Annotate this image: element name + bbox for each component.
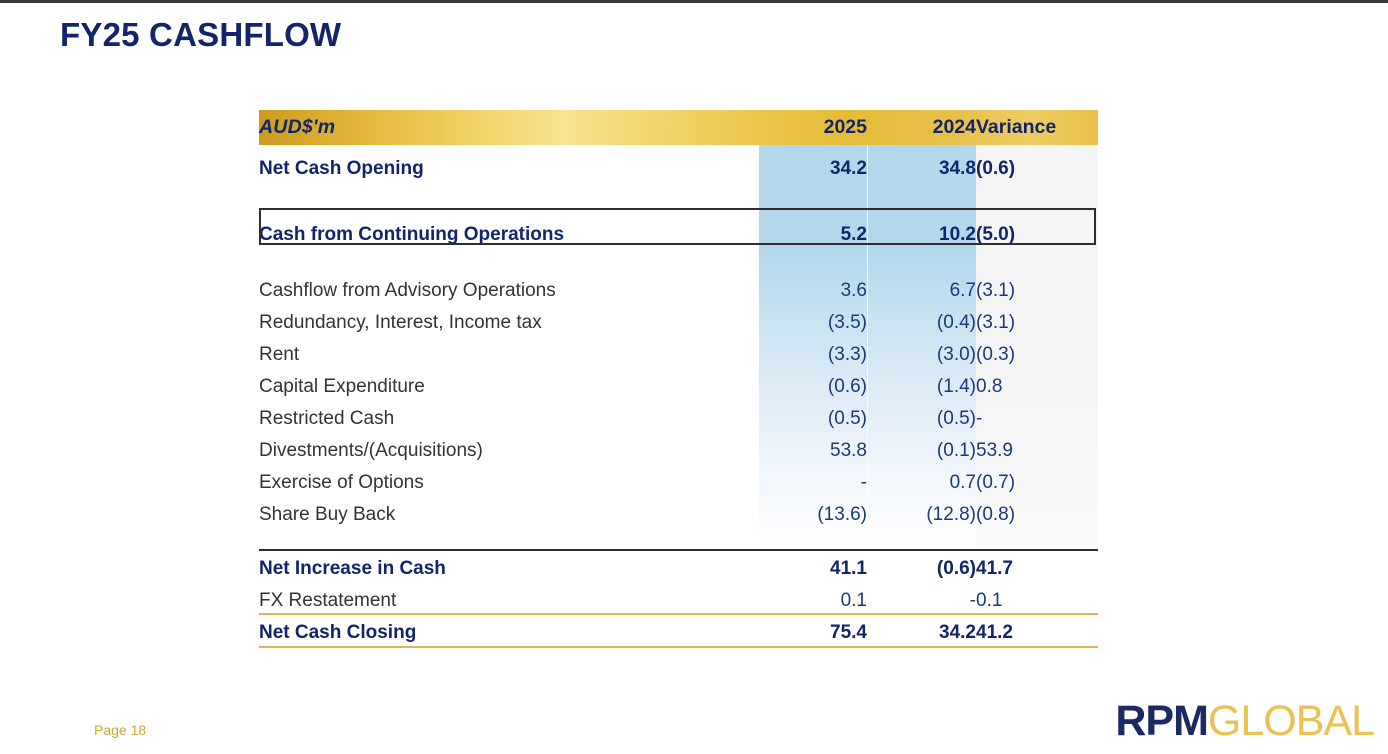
- row-label: Capital Expenditure: [259, 371, 759, 403]
- table-row: Exercise of Options - 0.7 (0.7): [259, 467, 1098, 499]
- table-row: Rent (3.3) (3.0) (0.3): [259, 339, 1098, 371]
- table-row: Restricted Cash (0.5) (0.5) -: [259, 403, 1098, 435]
- spacer-before-totals: [259, 531, 1098, 553]
- row-label: Net Cash Closing: [259, 617, 759, 649]
- cell-2025: 3.6: [759, 275, 867, 307]
- row-label: Redundancy, Interest, Income tax: [259, 307, 759, 339]
- spacer-cell: [867, 253, 976, 275]
- rpm-global-logo: RPMGLOBAL: [1115, 697, 1374, 746]
- spacer-cell: [259, 531, 759, 553]
- spacer-cell: [759, 531, 867, 553]
- table-row-cash-from-continuing-operations: Cash from Continuing Operations 5.2 10.2…: [259, 216, 1098, 253]
- cell-2025: (3.5): [759, 307, 867, 339]
- spacer-cell: [259, 193, 759, 216]
- cell-2025: 0.1: [759, 585, 867, 617]
- row-label: Net Cash Opening: [259, 145, 759, 193]
- cell-variance: (0.6): [976, 145, 1098, 193]
- spacer-after-highlight: [259, 253, 1098, 275]
- cell-2024: (12.8): [867, 499, 976, 531]
- spacer-cell: [867, 531, 976, 553]
- spacer-cell: [759, 253, 867, 275]
- cell-2024: (0.6): [867, 553, 976, 585]
- cell-2024: (0.1): [867, 435, 976, 467]
- header-currency-unit: AUD$'m: [259, 110, 759, 145]
- table-row: Capital Expenditure (0.6) (1.4) 0.8: [259, 371, 1098, 403]
- table-row-net-increase-in-cash: Net Increase in Cash 41.1 (0.6) 41.7: [259, 553, 1098, 585]
- cell-2024: 34.8: [867, 145, 976, 193]
- cell-variance: (0.7): [976, 467, 1098, 499]
- row-label: Cashflow from Advisory Operations: [259, 275, 759, 307]
- cell-2025: 53.8: [759, 435, 867, 467]
- row-label: Restricted Cash: [259, 403, 759, 435]
- cell-variance: (0.3): [976, 339, 1098, 371]
- cell-variance: (0.8): [976, 499, 1098, 531]
- table-row-net-cash-opening: Net Cash Opening 34.2 34.8 (0.6): [259, 145, 1098, 193]
- cell-2025: 41.1: [759, 553, 867, 585]
- table-row: Divestments/(Acquisitions) 53.8 (0.1) 53…: [259, 435, 1098, 467]
- table-row-net-cash-closing: Net Cash Closing 75.4 34.2 41.2: [259, 617, 1098, 649]
- cell-2024: 34.2: [867, 617, 976, 649]
- cell-variance: (5.0): [976, 216, 1098, 253]
- spacer-cell: [976, 253, 1098, 275]
- row-label: Share Buy Back: [259, 499, 759, 531]
- cell-variance: -: [976, 403, 1098, 435]
- row-label: Divestments/(Acquisitions): [259, 435, 759, 467]
- cell-2024: 0.7: [867, 467, 976, 499]
- row-label: Net Increase in Cash: [259, 553, 759, 585]
- spacer-cell: [867, 193, 976, 216]
- cell-variance: (3.1): [976, 275, 1098, 307]
- cell-2024: (3.0): [867, 339, 976, 371]
- cell-2024: -: [867, 585, 976, 617]
- header-col-2024: 2024: [867, 110, 976, 145]
- cell-variance: 41.2: [976, 617, 1098, 649]
- cell-2025: (3.3): [759, 339, 867, 371]
- cell-variance: (3.1): [976, 307, 1098, 339]
- cell-2024: (0.5): [867, 403, 976, 435]
- cell-variance: 53.9: [976, 435, 1098, 467]
- page-number: Page 18: [94, 722, 146, 738]
- cell-2024: 10.2: [867, 216, 976, 253]
- cell-2025: 5.2: [759, 216, 867, 253]
- logo-text-rpm: RPM: [1115, 697, 1208, 745]
- logo-text-global: GLOBAL: [1208, 697, 1374, 745]
- cell-2024: (1.4): [867, 371, 976, 403]
- cell-2025: (13.6): [759, 499, 867, 531]
- top-edge-strip: [0, 0, 1388, 3]
- table-row: Redundancy, Interest, Income tax (3.5) (…: [259, 307, 1098, 339]
- cell-variance: 0.1: [976, 585, 1098, 617]
- table-row-fx-restatement: FX Restatement 0.1 - 0.1: [259, 585, 1098, 617]
- cell-2024: (0.4): [867, 307, 976, 339]
- row-label: Rent: [259, 339, 759, 371]
- row-label: FX Restatement: [259, 585, 759, 617]
- header-col-2025: 2025: [759, 110, 867, 145]
- cell-2024: 6.7: [867, 275, 976, 307]
- spacer-cell: [259, 253, 759, 275]
- cell-2025: (0.5): [759, 403, 867, 435]
- row-label: Cash from Continuing Operations: [259, 216, 759, 253]
- spacer-cell: [976, 193, 1098, 216]
- cell-2025: (0.6): [759, 371, 867, 403]
- row-label: Exercise of Options: [259, 467, 759, 499]
- table-row: Share Buy Back (13.6) (12.8) (0.8): [259, 499, 1098, 531]
- spacer-cell: [976, 531, 1098, 553]
- table-header-row: AUD$'m 2025 2024 Variance: [259, 110, 1098, 145]
- header-col-variance: Variance: [976, 110, 1098, 145]
- cell-variance: 41.7: [976, 553, 1098, 585]
- table-row: Cashflow from Advisory Operations 3.6 6.…: [259, 275, 1098, 307]
- page-title: FY25 CASHFLOW: [60, 16, 341, 54]
- cell-2025: 75.4: [759, 617, 867, 649]
- cell-2025: 34.2: [759, 145, 867, 193]
- cashflow-table: AUD$'m 2025 2024 Variance Net Cash Openi…: [259, 110, 1098, 649]
- cell-2025: -: [759, 467, 867, 499]
- cell-variance: 0.8: [976, 371, 1098, 403]
- spacer-before-highlight: [259, 193, 1098, 216]
- cashflow-table-container: AUD$'m 2025 2024 Variance Net Cash Openi…: [259, 110, 1098, 649]
- spacer-cell: [759, 193, 867, 216]
